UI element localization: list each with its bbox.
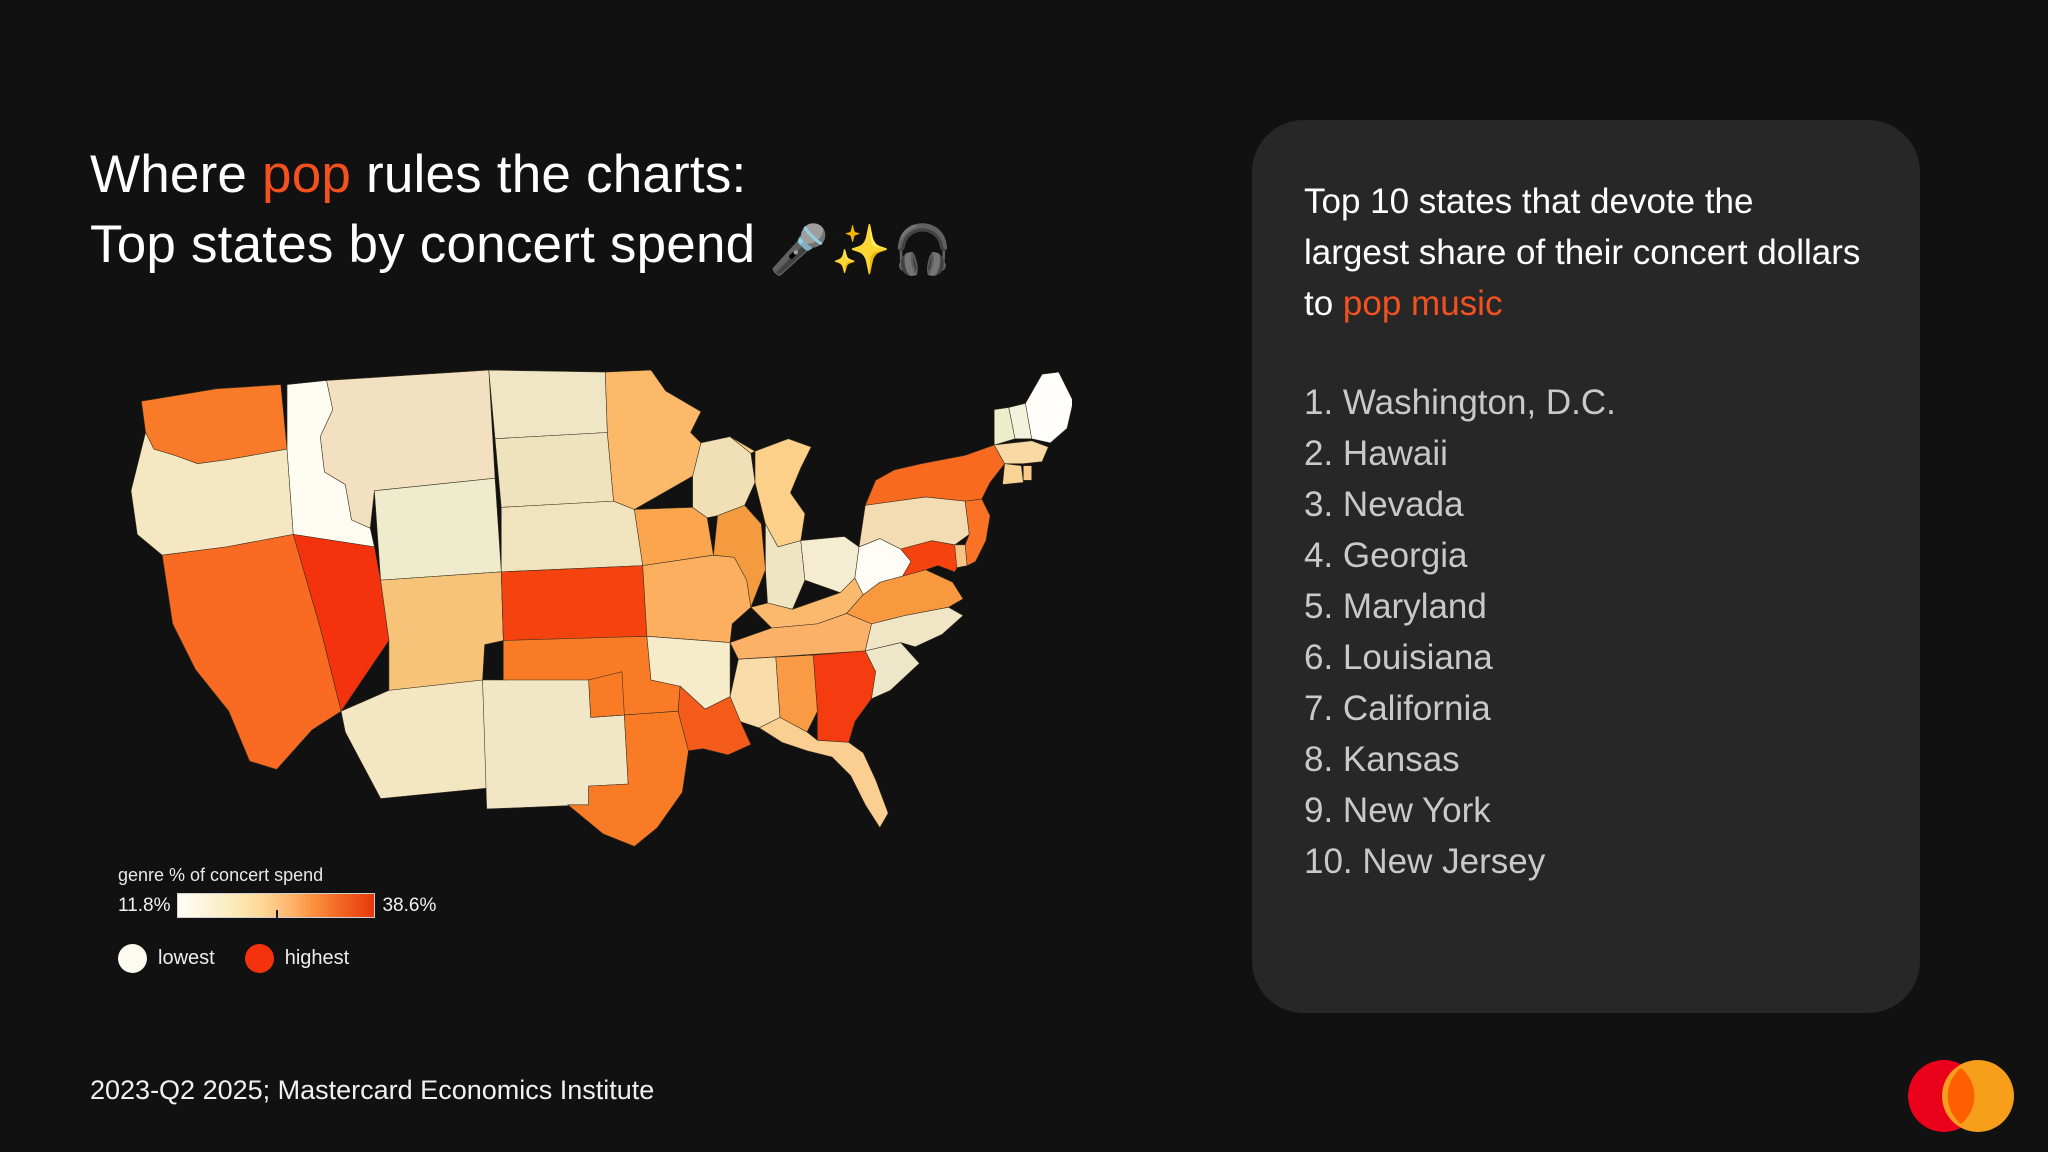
legend-max-value: 38.6% <box>382 895 436 917</box>
list-item: 7. California <box>1304 683 1868 734</box>
state-rhodeisland[interactable] <box>1023 466 1031 481</box>
music-emoji-group: 🎤✨🎧 <box>769 224 954 277</box>
state-kansas[interactable] <box>501 566 647 641</box>
state-minnesota[interactable] <box>605 370 701 509</box>
title-accent-pop: pop <box>262 145 351 204</box>
list-item: 4. Georgia <box>1304 530 1868 581</box>
state-arizona[interactable] <box>341 680 487 799</box>
panel-intro-text: Top 10 states that devote the largest sh… <box>1304 176 1868 329</box>
title-line-1: Where pop rules the charts: <box>90 140 955 210</box>
lowest-label: lowest <box>158 947 215 970</box>
source-note: 2023-Q2 2025; Mastercard Economics Insti… <box>90 1075 654 1106</box>
state-georgia[interactable] <box>813 651 875 743</box>
highest-color-swatch <box>245 944 274 973</box>
list-item: 8. Kansas <box>1304 734 1868 785</box>
state-utah[interactable] <box>381 572 504 691</box>
list-item: 3. Nevada <box>1304 479 1868 530</box>
legend-midpoint-tick <box>276 910 278 918</box>
us-map-svg <box>72 368 1072 888</box>
list-item: 6. Louisiana <box>1304 632 1868 683</box>
list-item: 10. New Jersey <box>1304 836 1868 887</box>
highest-label: highest <box>285 947 350 970</box>
title-line-2-text: Top states by concert spend <box>90 215 755 274</box>
state-shapes <box>131 370 1072 846</box>
list-item: 2. Hawaii <box>1304 428 1868 479</box>
list-item: 9. New York <box>1304 785 1868 836</box>
legend-scale-row: 11.8% 38.6% <box>118 893 538 918</box>
us-choropleth-map <box>72 368 1072 888</box>
list-item: 5. Maryland <box>1304 581 1868 632</box>
list-item: 1. Washington, D.C. <box>1304 377 1868 428</box>
title-line-1-pre: Where <box>90 145 262 204</box>
state-missouri[interactable] <box>643 555 751 642</box>
title-line-1-post: rules the charts: <box>351 145 746 204</box>
state-newjersey[interactable] <box>965 499 990 566</box>
infographic-canvas: Where pop rules the charts: Top states b… <box>0 0 2048 1152</box>
legend-highest-item: highest <box>245 944 350 973</box>
top-states-panel: Top 10 states that devote the largest sh… <box>1252 120 1920 1013</box>
state-northdakota[interactable] <box>489 370 608 439</box>
lowest-color-swatch <box>118 944 147 973</box>
legend-color-gradient <box>177 893 375 918</box>
legend-lowest-item: lowest <box>118 944 215 973</box>
map-legend: genre % of concert spend 11.8% 38.6% low… <box>118 865 538 973</box>
state-maine[interactable] <box>1025 372 1072 443</box>
legend-min-value: 11.8% <box>118 895 170 917</box>
state-connecticut[interactable] <box>1003 464 1024 485</box>
page-title: Where pop rules the charts: Top states b… <box>90 140 955 286</box>
title-line-2: Top states by concert spend🎤✨🎧 <box>90 210 955 286</box>
state-wyoming[interactable] <box>374 478 501 580</box>
state-nebraska[interactable] <box>501 501 642 572</box>
state-southdakota[interactable] <box>495 432 614 507</box>
legend-title: genre % of concert spend <box>118 865 538 886</box>
mastercard-logo <box>1900 1058 2022 1134</box>
state-newyork[interactable] <box>865 445 1004 505</box>
panel-intro-accent: pop music <box>1343 284 1503 323</box>
legend-swatch-row: lowest highest <box>118 944 538 973</box>
ranked-states-list: 1. Washington, D.C. 2. Hawaii 3. Nevada … <box>1304 377 1868 887</box>
